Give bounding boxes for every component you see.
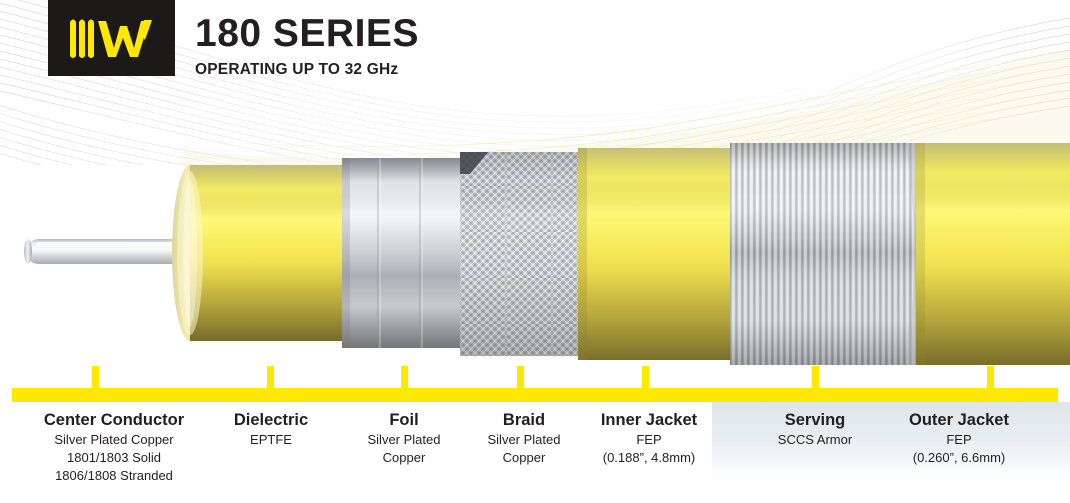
tick-mark <box>267 366 274 390</box>
layer-serving <box>730 143 916 365</box>
label-braid: Braid Silver Plated Copper <box>459 409 589 467</box>
label-outer-jacket: Outer Jacket FEP (0.260”, 6.6mm) <box>879 409 1039 467</box>
brand-logo-box <box>48 0 175 76</box>
label-detail: FEP <box>879 431 1039 449</box>
layer-dielectric <box>172 165 342 341</box>
label-title: Outer Jacket <box>879 409 1039 431</box>
cable-cutaway-illustration <box>0 140 1070 365</box>
page-subtitle: OPERATING UP TO 32 GHz <box>195 60 419 80</box>
tick-mark <box>812 366 819 390</box>
label-title: Braid <box>459 409 589 431</box>
layer-inner-jacket <box>578 148 730 360</box>
label-foil: Foil Silver Plated Copper <box>339 409 469 467</box>
layer-center-conductor <box>24 239 186 264</box>
label-detail: SCCS Armor <box>735 431 895 449</box>
tick-mark <box>987 366 994 390</box>
label-detail: 1806/1808 Stranded <box>0 467 228 485</box>
label-inner-jacket: Inner Jacket FEP (0.188”, 4.8mm) <box>574 409 724 467</box>
label-detail: 1801/1803 Solid <box>0 449 228 467</box>
label-detail: Silver Plated <box>339 431 469 449</box>
layer-foil <box>342 158 460 348</box>
title-block: 180 SERIES OPERATING UP TO 32 GHz <box>195 12 419 80</box>
label-title: Serving <box>735 409 895 431</box>
tick-mark <box>92 366 99 390</box>
page-title: 180 SERIES <box>195 12 419 56</box>
label-detail: Silver Plated Copper <box>0 431 228 449</box>
label-detail: EPTFE <box>196 431 346 449</box>
tick-mark <box>517 366 524 390</box>
label-title: Foil <box>339 409 469 431</box>
label-title: Center Conductor <box>0 409 228 431</box>
label-title: Inner Jacket <box>574 409 724 431</box>
label-detail: FEP <box>574 431 724 449</box>
label-detail: Silver Plated <box>459 431 589 449</box>
cable-spec-sheet: 180 SERIES OPERATING UP TO 32 GHz <box>0 0 1070 503</box>
layer-legend: Center Conductor Silver Plated Copper 18… <box>0 405 1070 503</box>
label-serving: Serving SCCS Armor <box>735 409 895 449</box>
measurement-bar <box>12 388 1058 402</box>
tick-mark <box>642 366 649 390</box>
label-detail: Copper <box>339 449 469 467</box>
layer-braid <box>460 152 578 356</box>
label-detail: (0.188”, 4.8mm) <box>574 449 724 467</box>
label-title: Dielectric <box>196 409 346 431</box>
label-detail: Copper <box>459 449 589 467</box>
label-dielectric: Dielectric EPTFE <box>196 409 346 449</box>
tick-mark <box>401 366 408 390</box>
mww-logo-icon <box>48 0 175 76</box>
label-center-conductor: Center Conductor Silver Plated Copper 18… <box>0 409 228 485</box>
label-detail: (0.260”, 6.6mm) <box>879 449 1039 467</box>
layer-outer-jacket <box>916 143 1070 365</box>
